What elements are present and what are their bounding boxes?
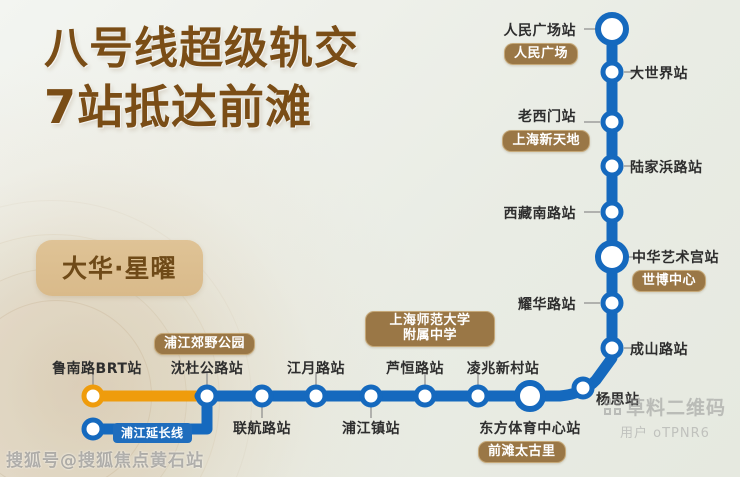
watermark-qr-text: 草料二维码 [626, 393, 726, 420]
poi-tag-shida-fuzhong: 上海师范大学 附属中学 [365, 311, 495, 347]
poi-tag-pujiang-jiaoye-gongyuan: 浦江郊野公园 [154, 333, 255, 355]
station-dot-luheng-lu[interactable] [416, 387, 434, 405]
station-label-lunan-lu-brt[interactable]: 鲁南路BRT站 [52, 358, 142, 378]
poi-tag-shida-fuzhong-line-1: 上海师范大学 [375, 313, 485, 328]
headline-block: 八号线超级轨交 7站抵达前滩 [44, 26, 359, 131]
station-label-lingzhao-xincun[interactable]: 凌兆新村站 [467, 358, 540, 378]
station-label-dongfang-tiyu-zhongxin[interactable]: 东方体育中心站 [479, 418, 581, 438]
headline-line-2: 7站抵达前滩 [44, 83, 359, 132]
station-label-renmin-guangchang[interactable]: 人民广场站 [504, 20, 577, 40]
station-label-shendu-gonglu[interactable]: 沈杜公路站 [171, 358, 244, 378]
station-dot-pujiangzhen[interactable] [362, 387, 380, 405]
watermark-sohu: 搜狐号@搜狐焦点黄石站 [6, 446, 204, 471]
poster-root: 八号线超级轨交 7站抵达前滩 大华·星曜 [0, 0, 740, 477]
station-dot-zhonghua-yishugong[interactable] [598, 243, 626, 271]
station-dot-renmin-guangchang[interactable] [598, 15, 626, 43]
station-dot-jiangyue-lu[interactable] [307, 387, 325, 405]
brand-badge: 大华·星曜 [36, 240, 203, 296]
station-label-pujiangzhen[interactable]: 浦江镇站 [342, 418, 400, 438]
station-label-jiangyue-lu[interactable]: 江月路站 [287, 358, 345, 378]
station-dot-lunan-lu-brt[interactable] [84, 387, 102, 405]
station-dot-lujiabang-lu[interactable] [603, 157, 621, 175]
station-dot-yaohua-lu[interactable] [603, 294, 621, 312]
poi-tag-qiantan-taikooli: 前滩太古里 [478, 441, 566, 463]
station-dot-yangsi[interactable] [574, 379, 592, 397]
station-label-lianhang-lu[interactable]: 联航路站 [233, 418, 291, 438]
station-dot-xizang-nanlu[interactable] [603, 203, 621, 221]
watermark-qr-block: 草料二维码 用户 oTPNR6 [604, 393, 726, 441]
station-dot-laoximen[interactable] [603, 113, 621, 131]
poi-tag-renmin-guangchang: 人民广场 [504, 43, 578, 65]
station-label-xizang-nanlu[interactable]: 西藏南路站 [504, 203, 577, 223]
station-label-chengshan-lu[interactable]: 成山路站 [630, 339, 688, 359]
station-dot-lianhang-lu[interactable] [253, 387, 271, 405]
station-label-luheng-lu[interactable]: 芦恒路站 [386, 358, 444, 378]
qr-code-icon [604, 398, 621, 415]
station-dot-shendu-gonglu[interactable] [198, 387, 216, 405]
station-dot-branch-terminus[interactable] [84, 420, 102, 438]
watermark-qr-line-1: 草料二维码 [604, 393, 726, 420]
station-label-lujiabang-lu[interactable]: 陆家浜路站 [630, 157, 703, 177]
station-label-yaohua-lu[interactable]: 耀华路站 [518, 294, 576, 314]
watermark-qr-line-2: 用户 oTPNR6 [604, 422, 726, 441]
station-dot-dashijie[interactable] [603, 63, 621, 81]
station-label-zhonghua-yishugong[interactable]: 中华艺术宫站 [632, 247, 719, 267]
branch-line-label: 浦江延长线 [113, 423, 192, 443]
brand-name: 大华·星曜 [62, 254, 177, 283]
vertical-station-dots [574, 15, 626, 397]
station-dot-dongfang-tiyu-zhongxin[interactable] [517, 383, 543, 409]
poi-tag-xintiandi: 上海新天地 [502, 130, 590, 152]
station-label-dashijie[interactable]: 大世界站 [630, 63, 688, 83]
station-dot-chengshan-lu[interactable] [603, 339, 621, 357]
station-dot-lingzhao-xincun[interactable] [469, 387, 487, 405]
poi-tag-shibo-zhongxin: 世博中心 [632, 270, 706, 292]
poi-tag-shida-fuzhong-line-2: 附属中学 [375, 328, 485, 343]
headline-line-1: 八号线超级轨交 [44, 26, 359, 73]
station-label-laoximen[interactable]: 老西门站 [518, 106, 576, 126]
